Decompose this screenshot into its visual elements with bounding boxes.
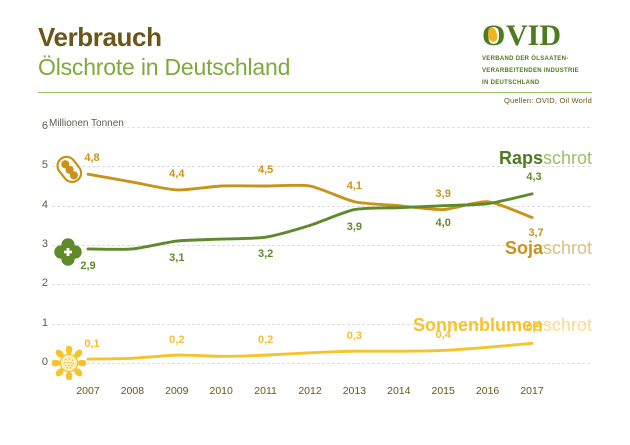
data-label: 3,9 xyxy=(347,221,362,233)
infographic-page: Verbrauch Ölschrote in Deutschland OVID … xyxy=(0,0,630,445)
x-axis-tick: 2008 xyxy=(121,385,144,397)
page-title: Verbrauch xyxy=(38,22,290,52)
series-line-rapsschrot xyxy=(88,194,532,249)
legend-sonnenblumen-light: schrot xyxy=(543,315,592,335)
legend-sonnenblumenschrot: Sonnenblumenschrot xyxy=(413,315,592,336)
x-axis-tick: 2015 xyxy=(432,385,455,397)
legend-rapsschrot-light: schrot xyxy=(543,148,592,168)
rapeseed-flower-icon xyxy=(52,236,84,273)
source-note: Quellen: OVID, Oil World xyxy=(504,96,592,105)
ovid-logo: OVID VERBAND DER ÖLSAATEN- VERARBEITENDE… xyxy=(482,20,602,88)
x-axis-tick: 2013 xyxy=(343,385,366,397)
legend-rapsschrot: Rapsschrot xyxy=(499,148,592,169)
data-label: 4,0 xyxy=(436,217,451,229)
page-subtitle: Ölschrote in Deutschland xyxy=(38,53,290,82)
data-label: 0,1 xyxy=(84,338,99,350)
data-label: 4,5 xyxy=(258,164,273,176)
data-label: 4,1 xyxy=(347,180,362,192)
soybean-pod-icon xyxy=(52,152,86,191)
data-label: 0,3 xyxy=(347,330,362,342)
data-label: 4,4 xyxy=(169,168,184,180)
logo-tagline-line1: VERBAND DER ÖLSAATEN- xyxy=(482,55,602,64)
chart-area: Millionen Tonnen 0123456 4,84,44,54,13,9… xyxy=(0,110,630,410)
x-axis-tick: 2009 xyxy=(165,385,188,397)
logo-tagline-line3: IN DEUTSCHLAND xyxy=(482,79,602,88)
logo-letters-vid: VID xyxy=(506,19,561,52)
x-axis-tick: 2017 xyxy=(520,385,543,397)
x-axis-tick: 2011 xyxy=(254,385,277,397)
x-axis-tick: 2014 xyxy=(387,385,410,397)
series-line-sojaschrot xyxy=(88,174,532,217)
header: Verbrauch Ölschrote in Deutschland OVID … xyxy=(0,0,630,100)
logo-tagline-line2: VERARBEITENDEN INDUSTRIE xyxy=(482,67,602,76)
header-divider xyxy=(38,92,592,93)
data-label: 3,1 xyxy=(169,252,184,264)
legend-sojaschrot-light: schrot xyxy=(543,238,592,258)
data-label: 3,9 xyxy=(436,188,451,200)
x-axis-tick: 2010 xyxy=(210,385,233,397)
legend-sojaschrot-bold: Soja xyxy=(505,238,543,258)
legend-rapsschrot-bold: Raps xyxy=(499,148,543,168)
sunflower-icon xyxy=(52,346,86,385)
x-axis-tick: 2012 xyxy=(298,385,321,397)
data-label: 0,2 xyxy=(258,334,273,346)
title-block: Verbrauch Ölschrote in Deutschland xyxy=(38,22,290,82)
data-label: 0,2 xyxy=(169,334,184,346)
data-label: 3,2 xyxy=(258,248,273,260)
data-label: 4,3 xyxy=(526,171,541,183)
x-axis-tick: 2007 xyxy=(76,385,99,397)
legend-sojaschrot: Sojaschrot xyxy=(505,238,592,259)
x-axis: 2007200820092010201120122013201420152016… xyxy=(0,385,630,405)
legend-sonnenblumen-bold: Sonnenblumen xyxy=(413,315,543,335)
logo-wordmark: OVID xyxy=(482,20,561,52)
data-label: 4,8 xyxy=(84,152,99,164)
x-axis-tick: 2016 xyxy=(476,385,499,397)
series-line-sonnenblumenschrot xyxy=(88,343,532,359)
